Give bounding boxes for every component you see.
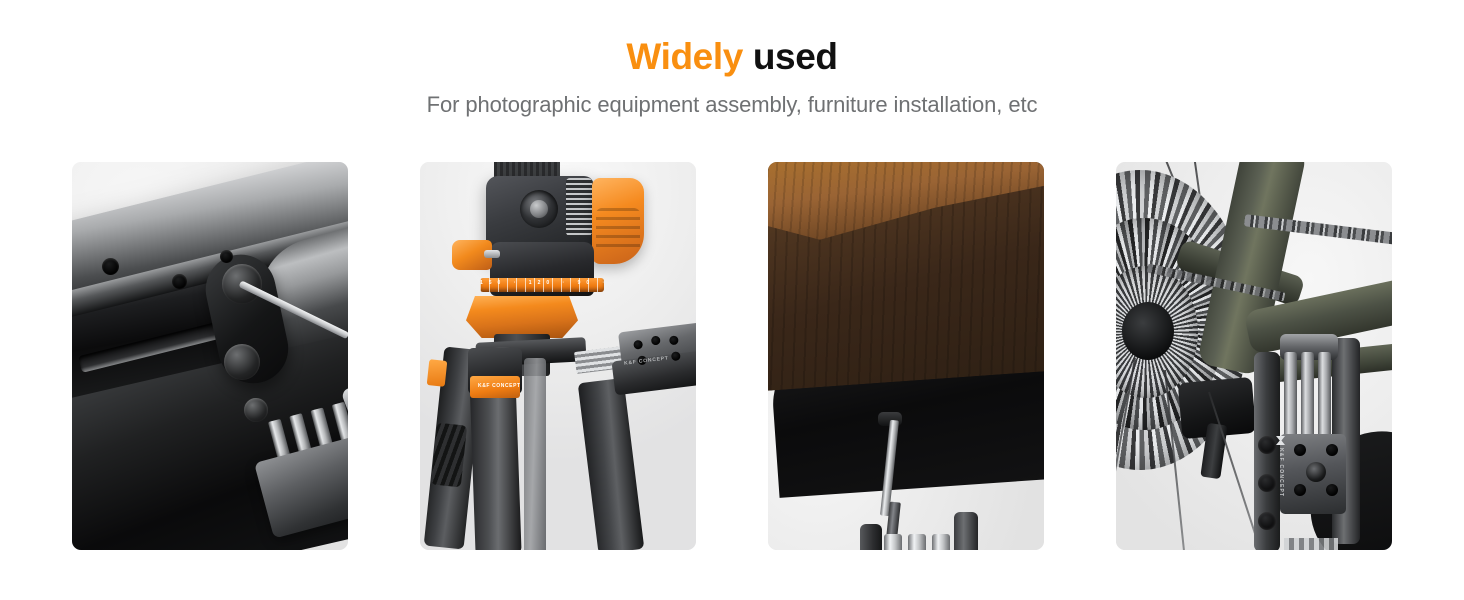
page-title: Widely used: [0, 36, 1464, 79]
multi-tool-4: K&F CONCEPT: [1254, 338, 1360, 550]
tool-frame-right-3: [954, 512, 978, 550]
multi-tool-3: K&F CONCEPT: [850, 524, 982, 550]
panorama-degree-dial: 150 · 120 · 90 · 60: [480, 278, 604, 292]
plate-center-socket: [1306, 462, 1326, 482]
tripod-orange-collar: [466, 296, 578, 338]
tool-thread-hole: [1258, 436, 1276, 454]
tool-frame-left-3: [860, 524, 882, 550]
gallery-image-wood-table: K&F CONCEPT: [768, 162, 1044, 550]
plate-hole: [1294, 484, 1306, 496]
tripod-center-shaft: [524, 358, 546, 550]
gallery-image-tripod-head: 150 · 120 · 90 · 60 K&F CONCEPT: [420, 162, 696, 550]
tool-thread-hole: [1258, 474, 1276, 492]
tool-thread-hole: [1258, 512, 1276, 530]
gallery-image-tripod-collar: K&F CONCEPT: [72, 162, 348, 550]
ballhead-scale-dial: [566, 178, 592, 236]
plate-hole: [102, 258, 119, 275]
brand-label-4: K&F CONCEPT: [1278, 448, 1284, 497]
bicycle-hub: [1122, 302, 1174, 360]
page-title-plain: used: [753, 36, 838, 77]
tool-bits-3: [884, 534, 954, 550]
promo-banner: Widely used For photographic equipment a…: [0, 0, 1464, 600]
image-gallery: K&F CONCEPT 150 · 120 · 90 · 60: [72, 162, 1392, 550]
plate-hole: [220, 250, 233, 263]
header: Widely used For photographic equipment a…: [0, 0, 1464, 119]
plate-hole: [1294, 444, 1306, 456]
page-title-accent: Widely: [626, 36, 743, 77]
tool-bit: [908, 534, 926, 550]
page-subtitle: For photographic equipment assembly, fur…: [0, 91, 1464, 120]
bolt-lower: [224, 344, 260, 380]
plate-hole: [1326, 484, 1338, 496]
tool-bit-tails-4: [1284, 538, 1338, 550]
ballhead-side-pin: [484, 250, 500, 258]
plate-hole: [1326, 444, 1338, 456]
tool-bit: [932, 534, 950, 550]
lever-grip-ribs: [596, 208, 640, 252]
tripod-brand-lock: K&F CONCEPT: [470, 376, 520, 398]
brand-label-2: K&F CONCEPT: [478, 383, 521, 389]
tool-bit: [884, 534, 902, 550]
panorama-dial-ticks: [480, 278, 604, 292]
tripod-leg-angle-lock: [427, 359, 448, 387]
ballhead-socket-inner: [530, 200, 548, 218]
gallery-image-bicycle: K&F CONCEPT: [1116, 162, 1392, 550]
plate-hole: [172, 274, 187, 289]
